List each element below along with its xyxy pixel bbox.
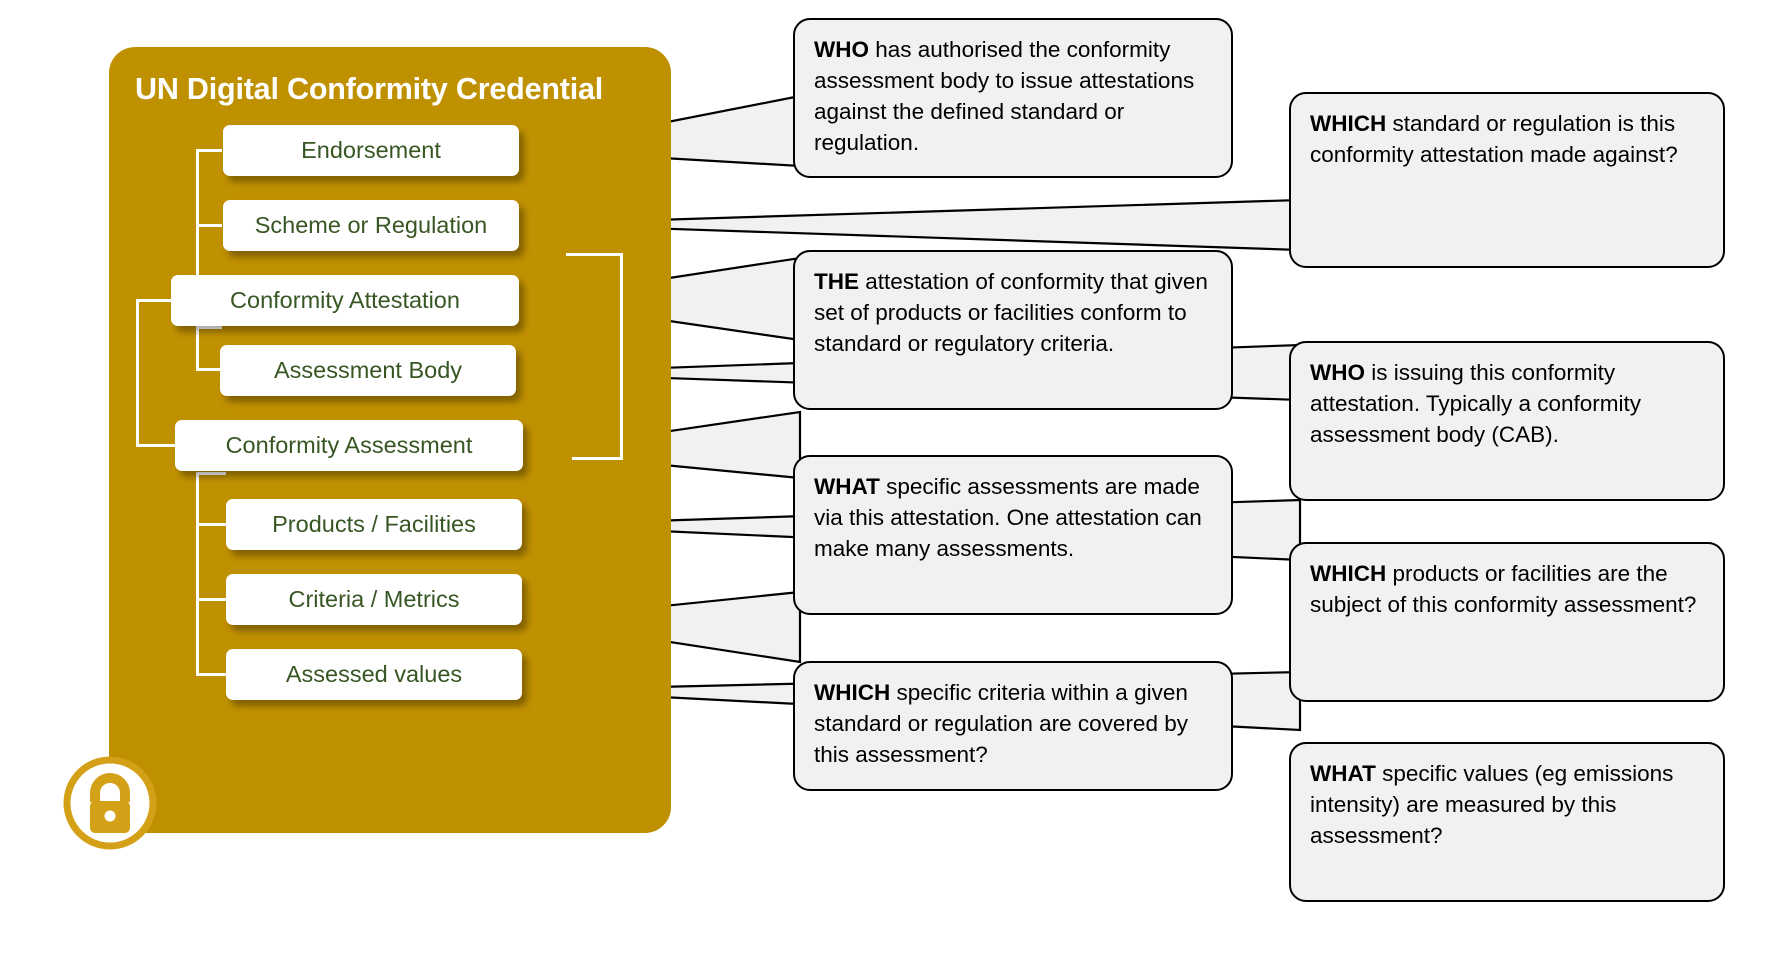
tree-chip-label: Products / Facilities	[272, 511, 476, 538]
tree-line-spine-b	[136, 299, 139, 447]
callout-conformity-attestation-text: THE attestation of conformity that given…	[814, 266, 1214, 359]
tree-line-branch-ab-top	[196, 326, 222, 329]
tree-line-branch-criteria	[196, 598, 226, 601]
callout-assessed-values: WHAT specific values (eg emissions inten…	[1289, 742, 1725, 902]
tree-line-branch-endorsement	[196, 149, 222, 152]
callout-lead: WHICH	[1310, 561, 1386, 586]
tree-chip-criteria-metrics[interactable]: Criteria / Metrics	[226, 574, 522, 625]
callout-lead: WHICH	[814, 680, 890, 705]
callout-lead: WHO	[1310, 360, 1365, 385]
tree-line-branch-ab-bottom	[196, 368, 222, 371]
callout-assessed-values-text: WHAT specific values (eg emissions inten…	[1310, 758, 1706, 851]
tree-line-branch-scheme	[196, 224, 222, 227]
callout-scheme-or-regulation-text: WHICH standard or regulation is this con…	[1310, 108, 1706, 170]
tree-chip-label: Conformity Assessment	[226, 432, 473, 459]
tree-chip-assessment-body[interactable]: Assessment Body	[220, 345, 516, 396]
callout-criteria-metrics: WHICH specific criteria within a given s…	[793, 661, 1233, 791]
callout-conformity-assessment-text: WHAT specific assessments are made via t…	[814, 471, 1214, 564]
tree-chip-label: Assessed values	[286, 661, 462, 688]
callout-lead: THE	[814, 269, 859, 294]
tree-chip-scheme-or-regulation[interactable]: Scheme or Regulation	[223, 200, 519, 251]
callout-criteria-metrics-text: WHICH specific criteria within a given s…	[814, 677, 1214, 770]
tree-chip-products-facilities[interactable]: Products / Facilities	[226, 499, 522, 550]
tree-line-branch-values	[196, 673, 226, 676]
callout-products-facilities: WHICH products or facilities are the sub…	[1289, 542, 1725, 702]
callout-scheme-or-regulation: WHICH standard or regulation is this con…	[1289, 92, 1725, 268]
tree-chip-conformity-assessment[interactable]: Conformity Assessment	[175, 420, 523, 471]
tree-line-spine-a	[196, 149, 199, 227]
callout-assessment-body: WHO is issuing this conformity attestati…	[1289, 341, 1725, 501]
tree-chip-label: Scheme or Regulation	[255, 212, 488, 239]
callout-lead: WHAT	[1310, 761, 1376, 786]
tree-line-spine-c	[196, 472, 199, 676]
callout-endorsement-text: WHO has authorised the conformity assess…	[814, 34, 1214, 159]
tree-line-branch-assessment	[136, 444, 176, 447]
callout-endorsement: WHO has authorised the conformity assess…	[793, 18, 1233, 178]
tree-line-right-bottom	[572, 457, 623, 460]
tree-chip-endorsement[interactable]: Endorsement	[223, 125, 519, 176]
tree-line-right-spine	[620, 253, 623, 460]
tree-chip-conformity-attestation[interactable]: Conformity Attestation	[171, 275, 519, 326]
tree-line-spine-assessment-body	[196, 326, 199, 371]
callout-lead: WHO	[814, 37, 869, 62]
tree-line-branch-products	[196, 523, 226, 526]
tree-chip-label: Endorsement	[301, 137, 441, 164]
padlock-keyhole	[105, 811, 116, 822]
tree-line-branch-c-top	[196, 472, 226, 475]
callout-conformity-attestation: THE attestation of conformity that given…	[793, 250, 1233, 410]
callout-products-facilities-text: WHICH products or facilities are the sub…	[1310, 558, 1706, 620]
callout-body: has authorised the conformity assessment…	[814, 37, 1194, 155]
callout-lead: WHICH	[1310, 111, 1386, 136]
tree-chip-label: Criteria / Metrics	[288, 586, 459, 613]
diagram-canvas: UN Digital Conformity Credential Endorse…	[0, 0, 1765, 954]
callout-body: attestation of conformity that given set…	[814, 269, 1208, 356]
callout-assessment-body-text: WHO is issuing this conformity attestati…	[1310, 357, 1706, 450]
padlock-icon	[62, 755, 158, 851]
tree-chip-assessed-values[interactable]: Assessed values	[226, 649, 522, 700]
tree-chip-label: Conformity Attestation	[230, 287, 460, 314]
tree-line-right-top	[566, 253, 623, 256]
tree-line-branch-attestation	[136, 299, 172, 302]
callout-lead: WHAT	[814, 474, 880, 499]
page-title: UN Digital Conformity Credential	[135, 72, 655, 107]
tree-chip-label: Assessment Body	[274, 357, 462, 384]
callout-conformity-assessment: WHAT specific assessments are made via t…	[793, 455, 1233, 615]
